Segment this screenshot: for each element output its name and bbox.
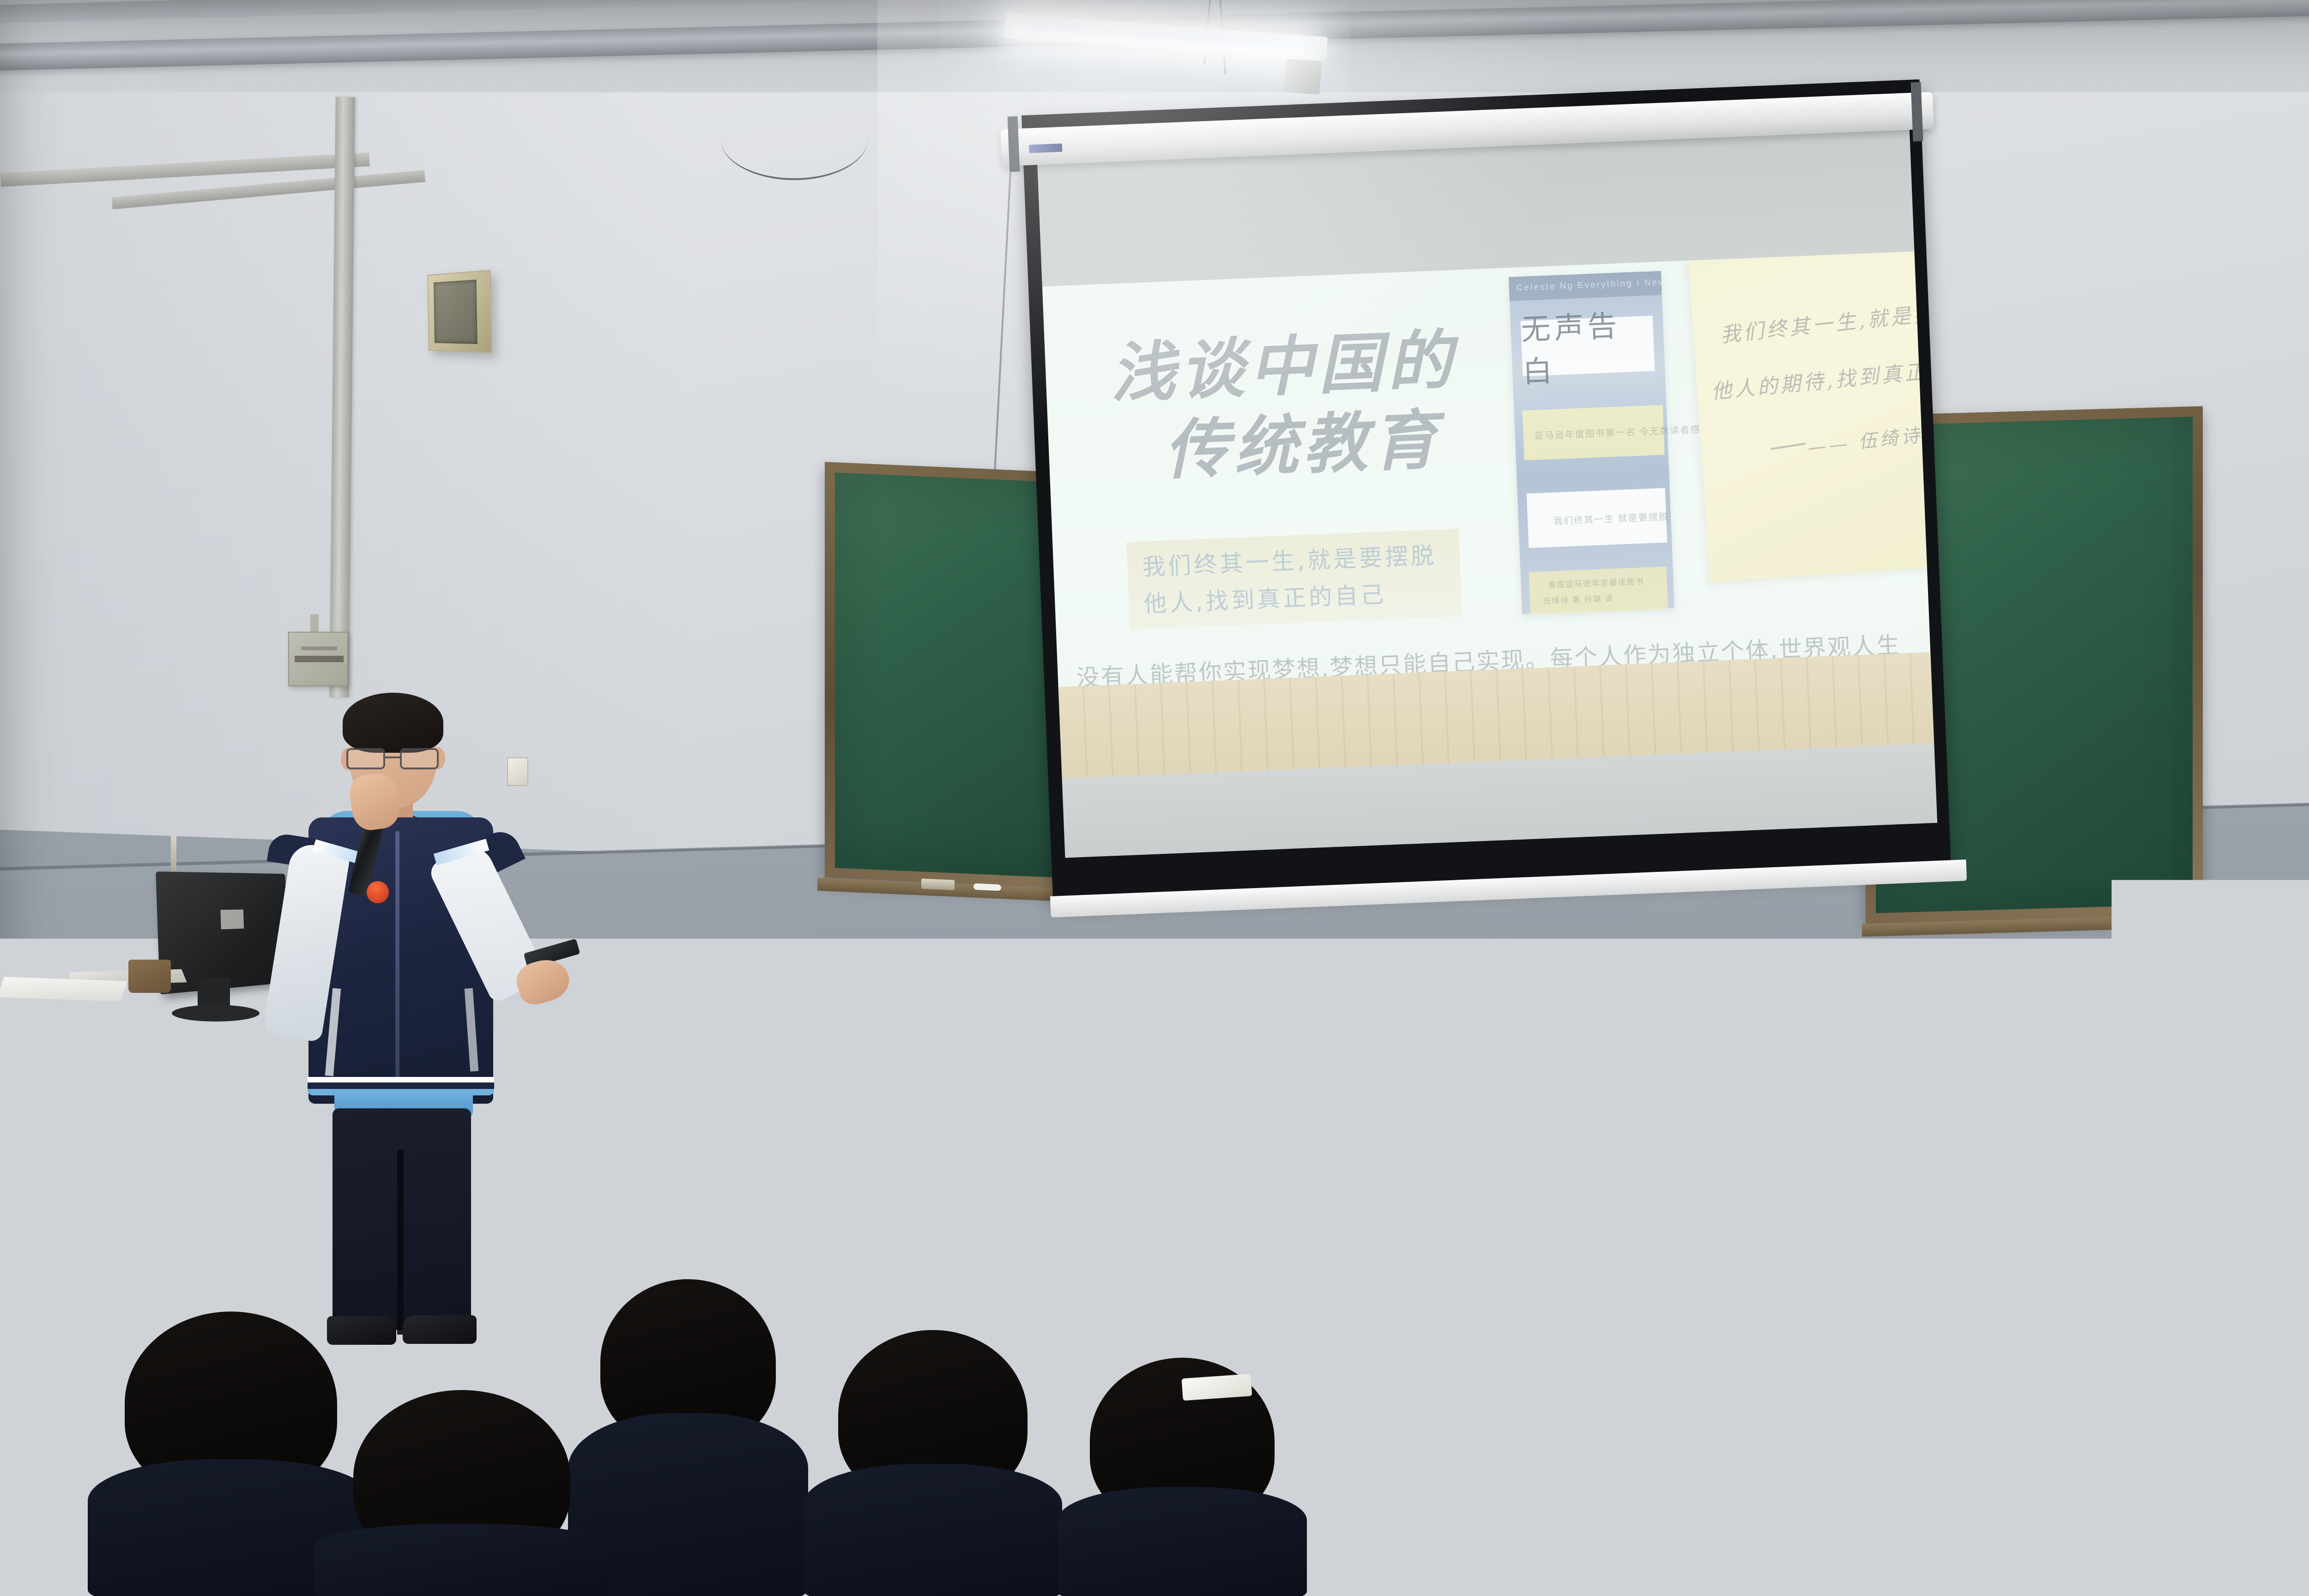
slide-title-line2: 传统教育: [1163, 399, 1475, 490]
list-item: [2023, 1441, 2309, 1596]
classroom-scene: 浅谈中国的 传统教育 我们终其一生,就是要摆脱 他人,找到真正的自己 Celes…: [0, 0, 2309, 1596]
book-band-3-text: 美国亚马逊年度最佳图书: [1547, 575, 1644, 590]
note-dash: [1771, 443, 1806, 450]
blue-classroom-chair[interactable]: [589, 954, 676, 1041]
glasses-lens-left: [346, 748, 385, 769]
light-endcap: [1283, 59, 1322, 95]
slide-subtitle-line1: 我们终其一生,就是要摆脱: [1142, 537, 1437, 582]
book-band-3: 美国亚马逊年度最佳图书 伍绮诗 著 孙璐 译: [1529, 567, 1668, 615]
monitor-sticker: [220, 909, 244, 929]
student-body: [1413, 1542, 1699, 1596]
list-item: [891, 1039, 1062, 1335]
board-eraser[interactable]: [921, 878, 955, 890]
note-handwriting-line1: 我们终其一生,就是要摆脱: [1719, 291, 1937, 348]
list-item: [1824, 1191, 2023, 1596]
glasses-bridge: [385, 756, 401, 758]
speaker-grill-icon: [434, 279, 478, 344]
slide-title-line1: 浅谈中国的: [1109, 322, 1458, 412]
papers-on-desk[interactable]: [0, 977, 127, 1001]
student-collar: [1660, 1354, 1826, 1370]
book-band-1: 亚马逊年度图书第一名 令无数读者感同身受: [1523, 405, 1665, 460]
student-head: [0, 1127, 148, 1279]
mug[interactable]: [128, 960, 171, 993]
monitor-base: [172, 1005, 260, 1022]
jacket-zipper: [395, 831, 399, 1081]
student-head: [1295, 1228, 1448, 1376]
list-item: [1413, 1413, 1699, 1596]
slide-content: 浅谈中国的 传统教育 我们终其一生,就是要摆脱 他人,找到真正的自己 Celes…: [1042, 252, 1937, 858]
junction-box-label: [295, 656, 344, 662]
student-body: [1058, 1487, 1307, 1596]
shoe-right: [403, 1315, 477, 1344]
sleeve-stripe: [1796, 1459, 1827, 1515]
slide-title: 浅谈中国的 传统教育: [1109, 320, 1475, 492]
student-body: [804, 1464, 1062, 1596]
wall-speaker: [428, 270, 492, 353]
handwritten-note-image: 我们终其一生,就是要摆脱 他人的期待,找到真正的自己。 —— 伍绮诗《无声告白》: [1688, 252, 1937, 582]
wall-outlet[interactable]: [654, 1113, 678, 1147]
slide-subtitle-box: 我们终其一生,就是要摆脱 他人,找到真正的自己: [1126, 529, 1462, 630]
student-body: [1824, 1321, 2023, 1596]
chalk-piece[interactable]: [973, 883, 1001, 891]
presenter-hair: [343, 693, 443, 753]
book-title-plate: 无声告白: [1521, 316, 1655, 376]
list-item: [804, 1330, 1062, 1596]
roller-brand-badge: [1029, 144, 1063, 153]
note-attribution: —— 伍绮诗《无声告白》: [1806, 406, 1937, 459]
book-band-4-text: 伍绮诗 著 孙璐 译: [1543, 592, 1614, 606]
glasses-lens-right: [400, 748, 439, 769]
student-body: [891, 1145, 1062, 1335]
junction-box-label-top: [301, 647, 337, 650]
electrical-junction-box: [288, 632, 348, 686]
student-body: [314, 1524, 610, 1596]
book-band-2-text: 我们终其一生 就是要摆脱: [1553, 509, 1669, 527]
student-collar: [1470, 1316, 1637, 1332]
student-body: [2023, 1556, 2309, 1596]
glasses-icon: [345, 748, 441, 769]
book-cover-image: Celeste Ng Everything I Never Told You 无…: [1509, 271, 1674, 614]
screen-surface: 浅谈中国的 传统教育 我们终其一生,就是要摆脱 他人,找到真正的自己 Celes…: [1037, 113, 1937, 858]
student-collar: [1201, 1186, 1353, 1202]
trouser-split: [397, 1150, 404, 1335]
book-title: 无声告白: [1520, 301, 1655, 391]
student-collar: [1840, 1328, 2007, 1344]
projection-screen: 浅谈中国的 传统教育 我们终其一生,就是要摆脱 他人,找到真正的自己 Celes…: [1022, 79, 1951, 900]
student-collar: [905, 1154, 1049, 1169]
slide-subtitle-line2: 他人,找到真正的自己: [1143, 576, 1387, 619]
student-collar: [733, 1194, 865, 1210]
book-cover-header: Celeste Ng Everything I Never Told You: [1509, 271, 1662, 301]
list-item: [314, 1390, 610, 1596]
book-band-2: 我们终其一生 就是要摆脱: [1527, 488, 1667, 548]
note-handwriting-line2: 他人的期待,找到真正的自己。: [1710, 346, 1937, 405]
